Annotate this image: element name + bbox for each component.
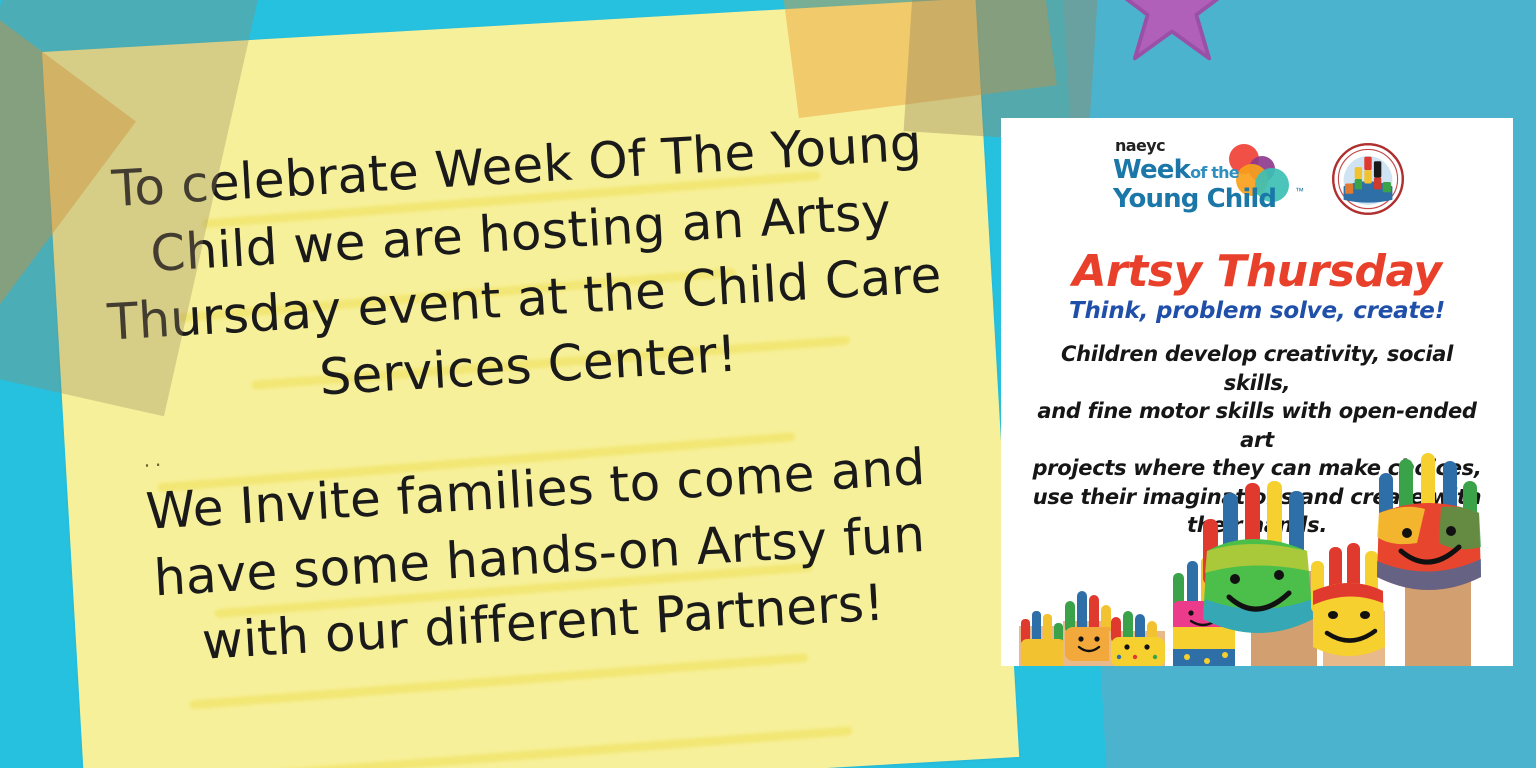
- poster-flyer-canvas: To celebrate Week Of The Young Child we …: [0, 0, 1536, 768]
- hand-small-3: [1109, 611, 1165, 666]
- hand-large-red: [1377, 453, 1481, 666]
- poster-subtitle: Think, problem solve, create!: [1001, 298, 1513, 324]
- note-stray-marks: ..: [143, 448, 166, 471]
- hand-small-2: [1063, 591, 1115, 666]
- logo-ofthe-word: of the: [1190, 163, 1239, 182]
- hand-yellow-smile: [1311, 543, 1385, 666]
- child-care-services-seal-icon: [1331, 142, 1405, 216]
- trademark-symbol: ™: [1295, 186, 1304, 196]
- hand-small-left: [1019, 611, 1065, 666]
- poster-logo-row: naeyc Weekof the Young Child ™: [1001, 136, 1513, 240]
- logo-line-two: Young Child: [1113, 184, 1276, 214]
- poster-body-line: Children develop creativity, social skil…: [1025, 340, 1489, 397]
- artsy-thursday-poster: naeyc Weekof the Young Child ™: [1001, 118, 1513, 666]
- note-message-text: To celebrate Week Of The Young Child we …: [88, 108, 972, 680]
- poster-title: Artsy Thursday: [1001, 246, 1513, 297]
- painted-hands-illustration: [1001, 451, 1513, 666]
- logo-line-one: Weekof the: [1113, 155, 1239, 185]
- logo-week-word: Week: [1113, 155, 1190, 185]
- naeyc-woyc-logo: naeyc Weekof the Young Child ™: [1109, 136, 1309, 240]
- poster-body-line: and fine motor skills with open-ended ar…: [1025, 397, 1489, 454]
- purple-star-icon: [1108, 0, 1236, 66]
- note-paragraph-1: To celebrate Week Of The Young Child we …: [88, 108, 957, 423]
- yellow-note-card: To celebrate Week Of The Young Child we …: [42, 0, 1019, 768]
- naeyc-wordmark: naeyc: [1115, 136, 1165, 155]
